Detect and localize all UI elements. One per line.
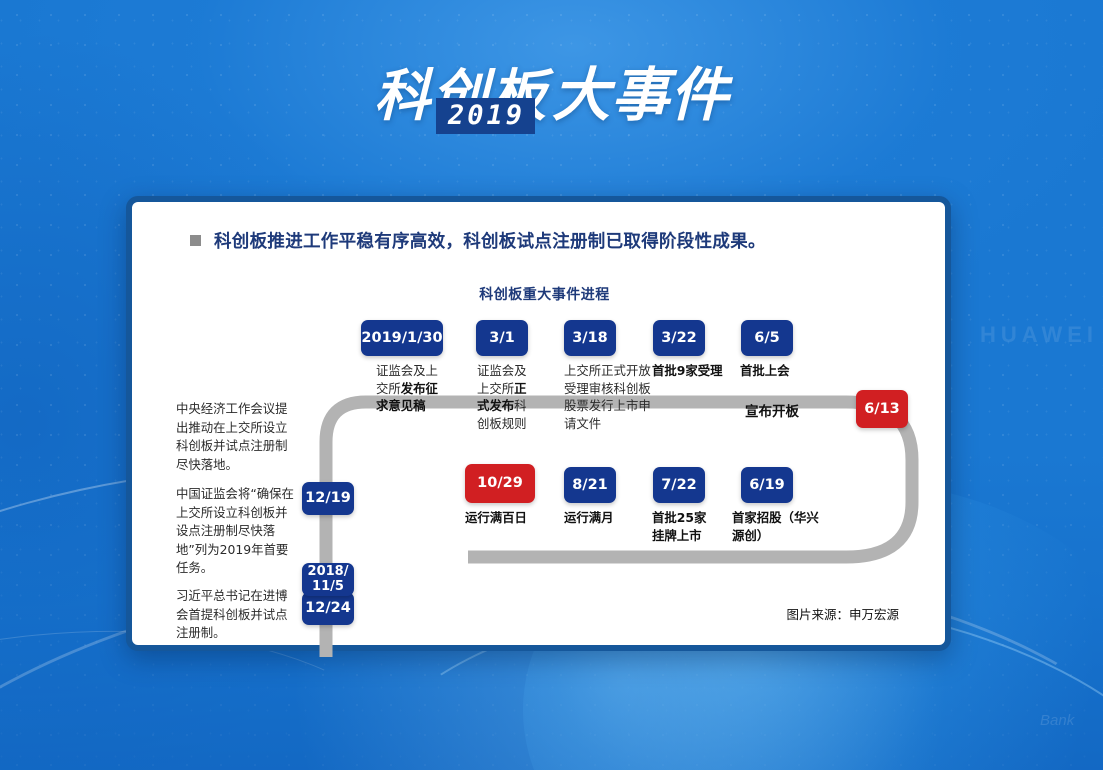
desc31-line-4: 创板规则 <box>477 416 527 431</box>
desc-line-2-bold: 发布征 <box>401 381 438 396</box>
timeline-desc-6-5: 首批上会 <box>740 362 796 380</box>
timeline-node-3-18[interactable]: 3/18 <box>564 320 616 356</box>
timeline-node-2018-11-5[interactable]: 2018/ 11/5 <box>302 563 354 596</box>
desc31-line-3-bold: 式发布 <box>477 398 514 413</box>
poster-title: 科创板大事件 2019 <box>0 48 1103 132</box>
huawei-watermark: HUAWEI <box>980 322 1098 348</box>
timeline-desc-7-22: 首批25家挂牌上市 <box>652 509 710 544</box>
timeline-desc-8-21: 运行满月 <box>564 509 640 527</box>
timeline-desc-2019-1-30: 证监会及上 交所发布征 求意见稿 <box>376 362 462 415</box>
timeline-node-10-29[interactable]: 10/29 <box>465 464 535 503</box>
timeline-node-7-22[interactable]: 7/22 <box>653 467 705 503</box>
desc31-line-1: 证监会及 <box>477 363 527 378</box>
source-attribution: 图片来源：申万宏源 <box>786 604 899 623</box>
desc31-line-2: 上交所 <box>477 381 514 396</box>
timeline-desc-6-19: 首家招股（华兴源创） <box>732 509 828 544</box>
content-card: 科创板推进工作平稳有序高效，科创板试点注册制已取得阶段性成果。 科创板重大事件进… <box>126 196 951 651</box>
timeline-desc-10-29: 运行满百日 <box>465 509 553 527</box>
desc-line-1: 证监会及上 <box>376 363 438 378</box>
left-note-12-19: 中国证监会将“确保在上交所设立科创板并设点注册制尽快落地”列为2019年首要任务… <box>176 485 294 578</box>
timeline-desc-3-1: 证监会及 上交所正 式发布科 创板规则 <box>477 362 549 432</box>
timeline-desc-3-22: 首批9家受理 <box>652 362 724 380</box>
left-note-12-24: 中央经济工作会议提出推动在上交所设立科创板并试点注册制尽快落地。 <box>176 400 294 474</box>
desc31-line-3: 科 <box>514 398 526 413</box>
title-year-badge: 2019 <box>436 98 535 134</box>
timeline-desc-3-18: 上交所正式开放受理审核科创板股票发行上市申请文件 <box>564 362 654 432</box>
desc-line-3-bold: 求意见稿 <box>376 398 426 413</box>
timeline-diagram: 12/24 12/19 2018/ 11/5 2019/1/30 3/1 3/1… <box>132 202 957 657</box>
title-secondary-text: 大事件 <box>552 61 729 129</box>
announce-open-label: 宣布开板 <box>745 400 799 420</box>
desc-line-2: 交所 <box>376 381 401 396</box>
timeline-node-6-13[interactable]: 6/13 <box>856 390 908 428</box>
timeline-node-3-1[interactable]: 3/1 <box>476 320 528 356</box>
timeline-node-2019-1-30[interactable]: 2019/1/30 <box>361 320 443 356</box>
corner-watermark: Bank <box>1040 712 1074 729</box>
poster-canvas: HUAWEI Bank 科创板大事件 2019 科创板推进工作平稳有序高效，科创… <box>0 0 1103 770</box>
timeline-node-12-19[interactable]: 12/19 <box>302 482 354 515</box>
timeline-node-12-24[interactable]: 12/24 <box>302 592 354 625</box>
desc31-line-2-bold: 正 <box>514 381 526 396</box>
timeline-node-8-21[interactable]: 8/21 <box>564 467 616 503</box>
timeline-node-6-5[interactable]: 6/5 <box>741 320 793 356</box>
timeline-node-3-22[interactable]: 3/22 <box>653 320 705 356</box>
timeline-node-6-19[interactable]: 6/19 <box>741 467 793 503</box>
left-note-2018-11-5: 习近平总书记在进博会首提科创板并试点注册制。 <box>176 587 294 643</box>
